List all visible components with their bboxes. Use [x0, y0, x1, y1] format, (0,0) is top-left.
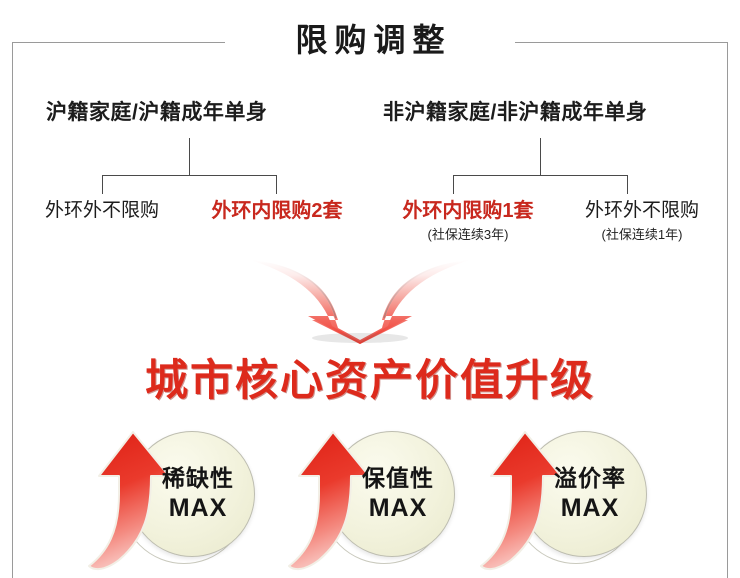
policy-leaf-text: 外环内限购1套 [377, 198, 559, 224]
tree-stem [540, 138, 541, 176]
policy-leaf-text: 外环外不限购 [22, 198, 182, 224]
tree-connector-local [102, 138, 278, 194]
badge-label-cn: 溢价率 [540, 464, 626, 493]
badge-label-cn: 稀缺性 [148, 464, 234, 493]
badge-label-max: MAX [155, 493, 228, 523]
value-badge-value-retention: 保值性 MAX [285, 420, 495, 578]
value-badge-premium-rate: 溢价率 MAX [477, 420, 687, 578]
badge-label: 稀缺性 MAX [129, 431, 253, 555]
policy-leaf-local-outer: 外环外不限购 [22, 198, 182, 224]
tree-connector-nonlocal [453, 138, 629, 194]
badge-label-max: MAX [355, 493, 428, 523]
policy-leaf-note: (社保连续3年) [377, 224, 559, 246]
tree-cross [102, 175, 277, 176]
tree-cross [453, 175, 628, 176]
badge-label: 保值性 MAX [329, 431, 453, 555]
group-header-local: 沪籍家庭/沪籍成年单身 [46, 96, 267, 126]
badge-label-cn: 保值性 [348, 464, 434, 493]
tree-stem [189, 138, 190, 176]
policy-leaf-text: 外环外不限购 [561, 198, 723, 224]
tree-drop-left [453, 175, 454, 194]
policy-leaf-nonlocal-inner: 外环内限购1套 (社保连续3年) [377, 198, 559, 246]
value-badge-scarcity: 稀缺性 MAX [85, 420, 295, 578]
badge-label-max: MAX [547, 493, 620, 523]
tree-drop-right [276, 175, 277, 194]
policy-leaf-local-inner: 外环内限购2套 [186, 198, 368, 224]
page-title: 限购调整 [0, 18, 740, 62]
policy-leaf-note: (社保连续1年) [561, 224, 723, 246]
tree-drop-right [627, 175, 628, 194]
badge-label: 溢价率 MAX [521, 431, 645, 555]
infographic-root: 限购调整 沪籍家庭/沪籍成年单身 非沪籍家庭/非沪籍成年单身 外环外不限购 外环… [0, 0, 740, 578]
policy-leaf-nonlocal-outer: 外环外不限购 (社保连续1年) [561, 198, 723, 246]
policy-leaf-text: 外环内限购2套 [186, 198, 368, 224]
tree-drop-left [102, 175, 103, 194]
headline: 城市核心资产价值升级 [0, 354, 740, 408]
funnel-down-arrow-icon [248, 258, 472, 344]
group-header-nonlocal: 非沪籍家庭/非沪籍成年单身 [383, 96, 647, 126]
